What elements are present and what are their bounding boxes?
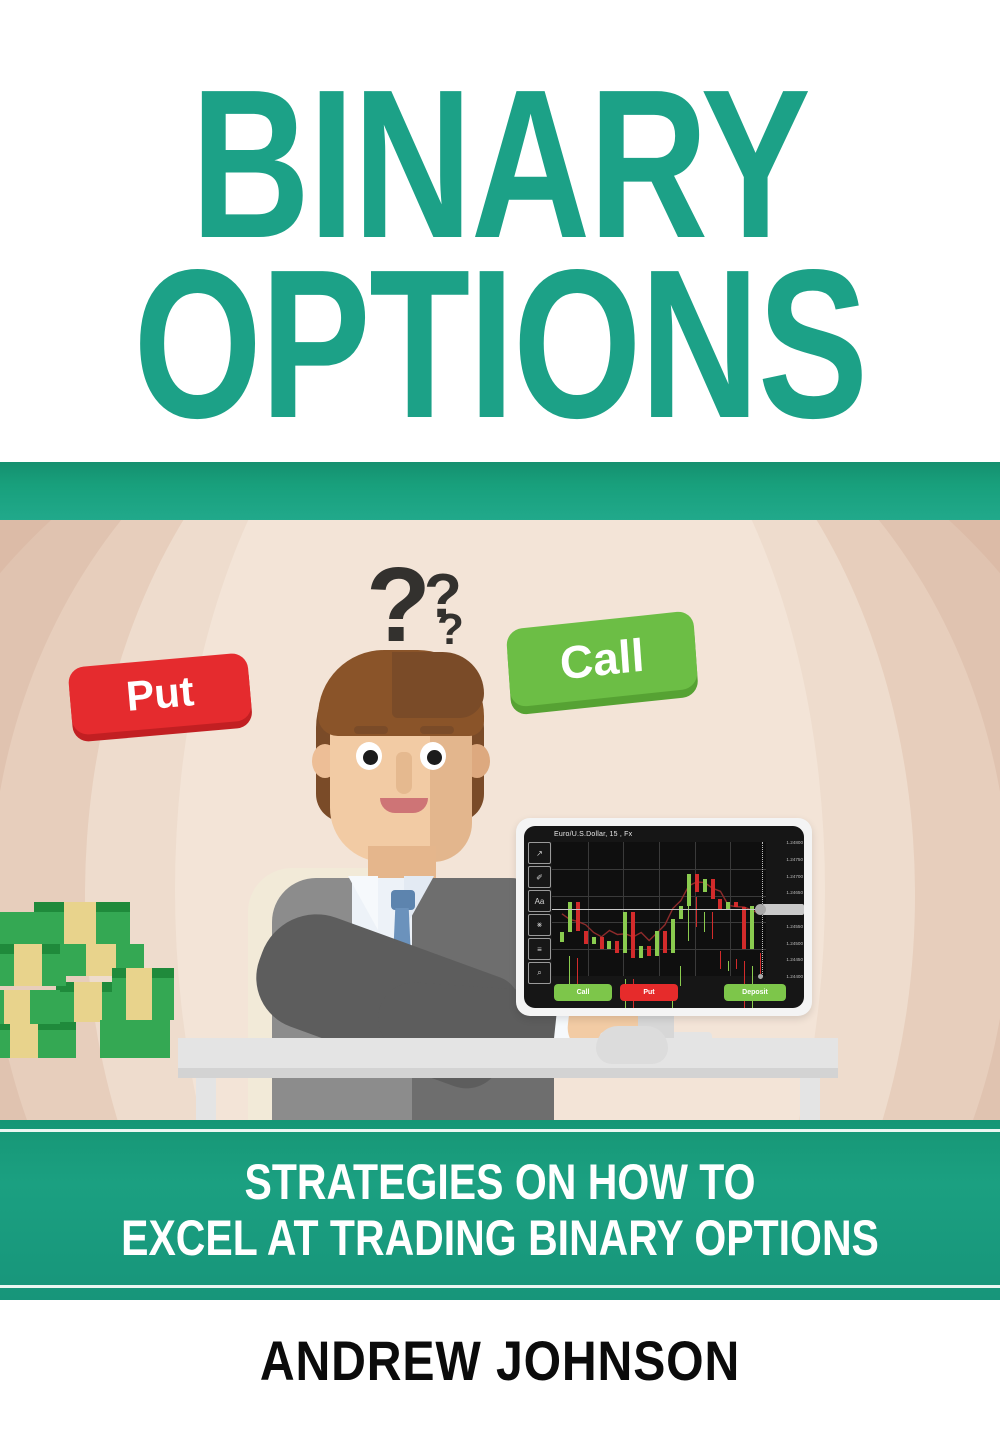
pupil-right: [427, 750, 442, 765]
accent-bar-top: [0, 462, 1000, 520]
candlestick: [687, 874, 691, 906]
subtitle-banner: STRATEGIES ON HOW TO EXCEL AT TRADING BI…: [0, 1120, 1000, 1300]
candlestick: [671, 919, 675, 953]
candlestick: [655, 931, 659, 956]
title-block: BINARY OPTIONS: [0, 0, 1000, 462]
candlestick-plot[interactable]: [552, 842, 766, 976]
price-marker-dot: [755, 904, 766, 915]
banner-rule-bottom: [0, 1285, 1000, 1288]
candlestick: [639, 946, 643, 958]
eyebrow-left: [354, 726, 388, 734]
candlestick: [623, 912, 627, 952]
candlestick: [607, 941, 611, 949]
eyebrow-right: [420, 726, 454, 734]
price-axis-tick: 1.24650: [786, 890, 803, 895]
candlestick: [703, 879, 707, 892]
subtitle-line-1: STRATEGIES ON HOW TO: [90, 1157, 910, 1207]
text-tool-icon[interactable]: Aa: [528, 890, 551, 912]
brush-tool-icon[interactable]: ✐: [528, 866, 551, 888]
levels-tool-icon[interactable]: ≡: [528, 938, 551, 960]
price-axis: 1.248001.247501.247001.246501.246001.245…: [766, 842, 804, 976]
candlestick: [663, 931, 667, 953]
deposit-button[interactable]: Deposit: [724, 984, 786, 1001]
candlestick: [592, 937, 596, 944]
candlestick: [560, 932, 564, 942]
title-line-2: OPTIONS: [110, 238, 890, 450]
candlestick: [750, 906, 754, 950]
question-mark-small: ?: [437, 608, 464, 652]
pupil-left: [363, 750, 378, 765]
nose: [396, 752, 412, 794]
subtitle-line-2: EXCEL AT TRADING BINARY OPTIONS: [90, 1213, 910, 1263]
price-marker-tag: [762, 904, 804, 915]
chart-toolbar[interactable]: ↗ ✐ Aa ⨳ ≡ ⌕: [528, 842, 550, 986]
price-axis-tick: 1.24550: [786, 924, 803, 929]
book-cover: BINARY OPTIONS: [0, 0, 1000, 1430]
chart-symbol-label: Euro/U.S.Dollar, 15 , Fx: [554, 831, 632, 838]
candlestick: [742, 907, 746, 949]
candlestick: [576, 902, 580, 930]
price-axis-tick: 1.24400: [786, 974, 803, 979]
computer-mouse: [596, 1026, 668, 1064]
candlestick: [600, 937, 604, 949]
price-axis-tick: 1.24450: [786, 957, 803, 962]
channel-tool-icon[interactable]: ⨳: [528, 914, 551, 936]
crosshair-anchor-dot: [758, 974, 763, 979]
desk-leg-right: [800, 1078, 820, 1120]
trading-platform-screen[interactable]: Euro/U.S.Dollar, 15 , Fx ↗ ✐ Aa ⨳ ≡ ⌕ 1.…: [524, 826, 804, 1008]
candlestick: [726, 902, 730, 909]
candlestick: [615, 941, 619, 953]
price-axis-tick: 1.24750: [786, 857, 803, 862]
mouth: [380, 798, 428, 813]
candlestick: [679, 906, 683, 919]
desk-edge: [178, 1068, 838, 1078]
collar-left: [348, 876, 378, 930]
tie-knot: [391, 890, 415, 910]
price-axis-tick: 1.24500: [786, 941, 803, 946]
candlestick: [711, 879, 715, 899]
desk-surface: [178, 1038, 838, 1068]
candlestick: [695, 874, 699, 892]
question-mark-large: ?: [366, 552, 431, 658]
author-block: ANDREW JOHNSON: [0, 1300, 1000, 1430]
trend-line-tool-icon[interactable]: ↗: [528, 842, 551, 864]
candlestick: [568, 902, 572, 932]
price-axis-tick: 1.24700: [786, 874, 803, 879]
call-button[interactable]: Call: [554, 984, 612, 1001]
put-button[interactable]: Put: [620, 984, 678, 1001]
desk-leg-left: [196, 1078, 216, 1120]
current-price-line: [552, 909, 766, 910]
author-name: ANDREW JOHNSON: [70, 1328, 930, 1393]
computer-monitor: Euro/U.S.Dollar, 15 , Fx ↗ ✐ Aa ⨳ ≡ ⌕ 1.…: [516, 818, 812, 1016]
candlestick: [718, 899, 722, 909]
candlestick: [631, 912, 635, 957]
price-axis-tick: 1.24800: [786, 840, 803, 845]
zoom-tool-icon[interactable]: ⌕: [528, 962, 551, 984]
hair-sweep: [392, 652, 484, 718]
illustration: ? ? ? Put Call: [0, 520, 1000, 1120]
banner-rule-top: [0, 1129, 1000, 1132]
candlestick: [647, 946, 651, 956]
candlestick: [734, 902, 738, 907]
candlestick: [584, 931, 588, 944]
